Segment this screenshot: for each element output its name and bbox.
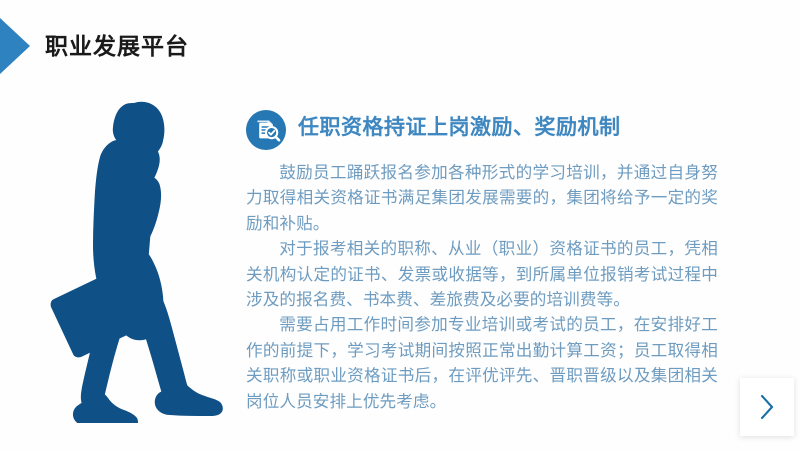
content-column: 任职资格持证上岗激励、奖励机制 鼓励员工踊跃报名参加各种形式的学习培训，并通过自… (246, 106, 738, 414)
body-paragraphs: 鼓励员工踊跃报名参加各种形式的学习培训，并通过自身努力取得相关资格证书满足集团发… (246, 160, 718, 414)
triangle-right-icon (0, 18, 30, 74)
document-search-icon (246, 110, 286, 150)
body-paragraph-2: 对于报考相关的职称、从业（职业）资格证书的员工，凭相关机构认定的证书、发票或收据… (246, 236, 718, 312)
section-heading-row: 任职资格持证上岗激励、奖励机制 (246, 106, 738, 154)
page-title: 职业发展平台 (45, 30, 189, 62)
body-paragraph-3: 需要占用工作时间参加专业培训或考试的员工，在安排好工作的前提下，学习考试期间按照… (246, 312, 718, 414)
next-slide-button[interactable] (740, 378, 794, 436)
section-heading: 任职资格持证上岗激励、奖励机制 (298, 113, 621, 143)
slide-header: 职业发展平台 (0, 18, 340, 74)
slide-canvas: 职业发展平台 (0, 0, 800, 450)
body-paragraph-1: 鼓励员工踊跃报名参加各种形式的学习培训，并通过自身努力取得相关资格证书满足集团发… (246, 160, 718, 236)
chevron-right-icon (757, 392, 777, 422)
walking-businessman-silhouette (38, 88, 243, 423)
